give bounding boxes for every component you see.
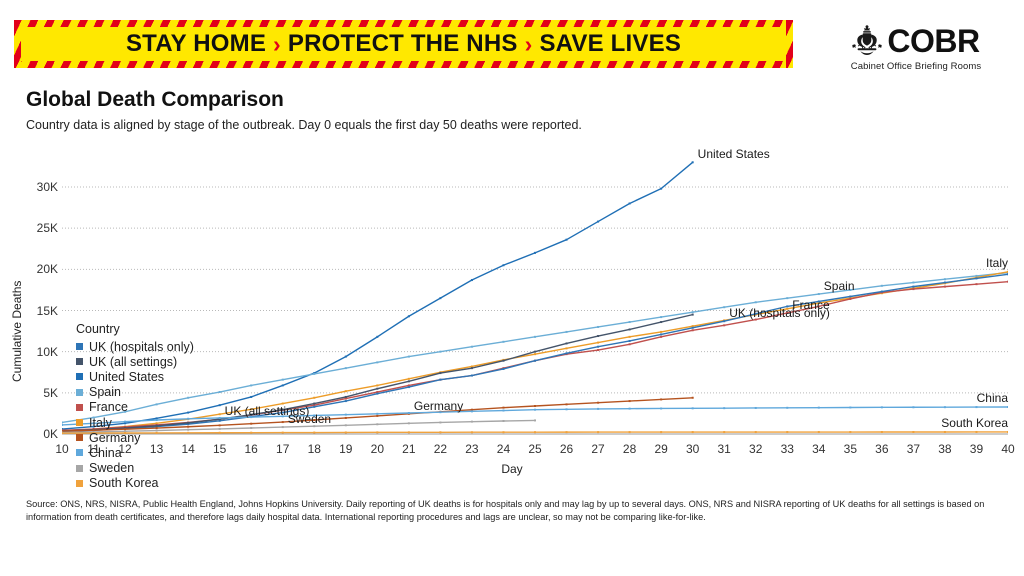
chart-legend: Country UK (hospitals only)UK (all setti… <box>76 322 194 491</box>
series-marker <box>534 360 536 362</box>
series-marker <box>471 431 473 433</box>
legend-swatch-icon <box>76 434 83 441</box>
series-marker <box>597 431 599 433</box>
banner-segment-stay-home: STAY HOME <box>126 30 266 58</box>
series-marker <box>219 413 221 415</box>
legend-item-label: South Korea <box>89 476 159 490</box>
series-marker <box>62 424 63 426</box>
series-marker <box>944 282 946 284</box>
y-axis-tick-label: 30K <box>18 180 58 194</box>
legend-item-label: UK (hospitals only) <box>89 340 194 354</box>
series-marker <box>345 367 347 369</box>
series-marker <box>597 349 599 351</box>
series-marker <box>723 324 725 326</box>
series-label-china: China <box>977 391 1008 405</box>
x-axis-tick-label: 36 <box>875 442 888 456</box>
series-marker <box>597 342 599 344</box>
series-marker <box>818 431 820 433</box>
banner-slogan: STAY HOME › PROTECT THE NHS › SAVE LIVES <box>126 30 681 58</box>
x-axis-tick-label: 38 <box>938 442 951 456</box>
series-marker <box>408 422 410 424</box>
series-marker <box>502 420 504 422</box>
series-marker <box>786 297 788 299</box>
series-marker <box>471 375 473 377</box>
series-marker <box>345 356 347 358</box>
legend-items: UK (hospitals only)UK (all settings)Unit… <box>76 339 194 491</box>
series-marker <box>660 331 662 333</box>
series-marker <box>944 286 946 288</box>
legend-item-label: UK (all settings) <box>89 355 177 369</box>
series-label-sweden: Sweden <box>288 412 331 426</box>
series-marker <box>471 410 473 412</box>
series-marker <box>471 279 473 281</box>
series-marker <box>881 285 883 287</box>
chart-container: Cumulative Deaths 0K5K10K15K20K25K30K Un… <box>0 150 1024 480</box>
x-axis-tick-label: 33 <box>781 442 794 456</box>
series-marker <box>975 406 977 408</box>
royal-coat-of-arms-icon <box>852 24 882 58</box>
legend-item-label: China <box>89 446 122 460</box>
series-marker <box>849 298 851 300</box>
legend-item-label: United States <box>89 370 164 384</box>
x-axis-tick-label: 23 <box>465 442 478 456</box>
series-marker <box>597 221 599 223</box>
series-marker <box>1007 281 1008 283</box>
series-marker <box>502 410 504 412</box>
series-marker <box>912 431 914 433</box>
series-marker <box>439 297 441 299</box>
x-axis-tick-label: 19 <box>339 442 352 456</box>
series-marker <box>629 328 631 330</box>
series-marker <box>219 432 221 434</box>
series-marker <box>1007 406 1008 408</box>
series-marker <box>282 421 284 423</box>
series-marker <box>944 278 946 280</box>
series-marker <box>408 378 410 380</box>
series-marker <box>629 431 631 433</box>
series-label-spain: Spain <box>824 279 855 293</box>
legend-swatch-icon <box>76 404 83 411</box>
x-axis-tick-label: 18 <box>308 442 321 456</box>
series-marker <box>408 356 410 358</box>
series-marker <box>660 316 662 318</box>
series-marker <box>566 347 568 349</box>
series-marker <box>471 367 473 369</box>
series-marker <box>376 423 378 425</box>
legend-swatch-icon <box>76 480 83 487</box>
x-axis-tick-label: 15 <box>213 442 226 456</box>
series-marker <box>660 321 662 323</box>
series-marker <box>345 396 347 398</box>
series-marker <box>1007 273 1008 275</box>
x-axis-tick-label: 28 <box>623 442 636 456</box>
cobr-logo: COBR Cabinet Office Briefing Rooms <box>832 22 1000 78</box>
legend-title: Country <box>76 322 194 336</box>
series-marker <box>1007 271 1008 273</box>
legend-item-italy[interactable]: Italy <box>76 415 194 430</box>
y-axis-tick-label: 5K <box>18 386 58 400</box>
hazard-stripe-left <box>14 20 21 68</box>
series-marker <box>597 346 599 348</box>
series-marker <box>597 335 599 337</box>
x-axis-tick-label: 26 <box>560 442 573 456</box>
series-marker <box>408 315 410 317</box>
series-marker <box>502 341 504 343</box>
series-marker <box>534 353 536 355</box>
stay-home-banner: STAY HOME › PROTECT THE NHS › SAVE LIVES <box>14 20 793 68</box>
x-axis-tick-label: 22 <box>434 442 447 456</box>
y-axis-tick-label: 25K <box>18 221 58 235</box>
series-marker <box>250 432 252 434</box>
x-axis-tick-label: 10 <box>55 442 68 456</box>
series-marker <box>849 406 851 408</box>
legend-item-germany[interactable]: Germany <box>76 430 194 445</box>
series-marker <box>471 421 473 423</box>
series-marker <box>282 432 284 434</box>
x-axis-tick-label: 30 <box>686 442 699 456</box>
legend-swatch-icon <box>76 358 83 365</box>
hazard-stripe-right <box>786 20 793 68</box>
x-axis-tick-label: 17 <box>276 442 289 456</box>
series-marker <box>786 431 788 433</box>
series-marker <box>502 431 504 433</box>
legend-item-label: Spain <box>89 385 121 399</box>
series-marker <box>534 405 536 407</box>
series-marker <box>502 360 504 362</box>
series-marker <box>881 431 883 433</box>
series-marker <box>376 384 378 386</box>
x-axis-tick-label: 16 <box>245 442 258 456</box>
series-marker <box>912 406 914 408</box>
series-marker <box>912 286 914 288</box>
series-marker <box>219 428 221 430</box>
hazard-stripe-bottom <box>14 61 793 68</box>
series-marker <box>912 288 914 290</box>
x-axis-tick-label: 31 <box>718 442 731 456</box>
series-marker <box>345 431 347 433</box>
series-marker <box>376 415 378 417</box>
banner-segment-save-lives: SAVE LIVES <box>539 30 681 58</box>
series-marker <box>975 431 977 433</box>
legend-item-label: Sweden <box>89 461 134 475</box>
series-marker <box>502 264 504 266</box>
series-marker <box>566 403 568 405</box>
legend-item-united-states[interactable]: United States <box>76 369 194 384</box>
series-marker <box>502 368 504 370</box>
y-axis-ticks: 0K5K10K15K20K25K30K <box>14 150 58 450</box>
series-marker <box>534 431 536 433</box>
series-marker <box>723 320 725 322</box>
series-marker <box>219 417 221 419</box>
series-marker <box>219 404 221 406</box>
page-title: Global Death Comparison <box>26 88 284 112</box>
series-marker <box>629 321 631 323</box>
series-marker <box>376 393 378 395</box>
series-marker <box>376 431 378 433</box>
series-marker <box>439 351 441 353</box>
series-marker <box>408 412 410 414</box>
series-marker <box>376 336 378 338</box>
legend-item-sweden[interactable]: Sweden <box>76 461 194 476</box>
series-marker <box>692 397 694 399</box>
series-marker <box>912 282 914 284</box>
x-axis-tick-label: 32 <box>749 442 762 456</box>
series-marker <box>660 398 662 400</box>
series-marker <box>250 427 252 429</box>
y-axis-tick-label: 10K <box>18 345 58 359</box>
series-marker <box>723 407 725 409</box>
legend-swatch-icon <box>76 343 83 350</box>
series-marker <box>408 386 410 388</box>
x-axis-tick-label: 39 <box>970 442 983 456</box>
legend-item-uk-all-settings[interactable]: UK (all settings) <box>76 354 194 369</box>
legend-item-label: Italy <box>89 416 112 430</box>
x-axis-tick-label: 37 <box>907 442 920 456</box>
series-marker <box>219 424 221 426</box>
series-marker <box>471 346 473 348</box>
series-marker <box>376 361 378 363</box>
series-marker <box>502 407 504 409</box>
series-marker <box>534 419 536 421</box>
series-marker <box>660 407 662 409</box>
chevron-right-icon-2: › <box>525 31 533 58</box>
series-marker <box>282 426 284 428</box>
series-marker <box>62 421 63 423</box>
series-marker <box>439 372 441 374</box>
series-marker <box>250 423 252 425</box>
series-marker <box>692 329 694 331</box>
series-marker <box>629 202 631 204</box>
series-marker <box>566 408 568 410</box>
series-marker <box>692 314 694 316</box>
series-marker <box>786 407 788 409</box>
series-marker <box>313 373 315 375</box>
legend-item-uk-hospitals-only[interactable]: UK (hospitals only) <box>76 339 194 354</box>
y-axis-tick-label: 15K <box>18 304 58 318</box>
series-label-south-korea: South Korea <box>941 416 1008 430</box>
x-axis-tick-label: 40 <box>1001 442 1014 456</box>
series-marker <box>62 432 63 434</box>
series-marker <box>250 384 252 386</box>
series-marker <box>944 406 946 408</box>
series-marker <box>975 277 977 279</box>
series-marker <box>629 400 631 402</box>
banner-row: STAY HOME › PROTECT THE NHS › SAVE LIVES <box>0 0 1024 88</box>
series-marker <box>534 252 536 254</box>
series-marker <box>597 408 599 410</box>
legend-item-label: Germany <box>89 431 140 445</box>
x-axis-tick-label: 27 <box>591 442 604 456</box>
series-marker <box>881 291 883 293</box>
series-marker <box>723 306 725 308</box>
series-marker <box>629 336 631 338</box>
series-marker <box>376 413 378 415</box>
x-axis-tick-label: 34 <box>812 442 825 456</box>
series-marker <box>755 301 757 303</box>
series-marker <box>566 352 568 354</box>
series-marker <box>534 409 536 411</box>
legend-item-china[interactable]: China <box>76 445 194 460</box>
series-marker <box>660 336 662 338</box>
series-marker <box>660 333 662 335</box>
series-marker <box>692 327 694 329</box>
x-axis-tick-label: 24 <box>497 442 510 456</box>
x-axis-ticks: 1011121314151617181920212223242526272829… <box>62 442 1008 462</box>
series-marker <box>313 432 315 434</box>
series-marker <box>345 424 347 426</box>
hazard-stripe-top <box>14 20 793 27</box>
series-marker <box>534 351 536 353</box>
series-marker <box>944 431 946 433</box>
series-marker <box>408 380 410 382</box>
series-label-uk-hospitals-only: UK (hospitals only) <box>729 306 830 320</box>
page-subtitle: Country data is aligned by stage of the … <box>26 118 582 132</box>
chevron-right-icon-1: › <box>273 31 281 58</box>
legend-swatch-icon <box>76 373 83 380</box>
series-marker <box>660 188 662 190</box>
series-marker <box>313 406 315 408</box>
series-label-united-states: United States <box>698 147 770 161</box>
series-marker <box>660 431 662 433</box>
series-marker <box>975 283 977 285</box>
x-axis-tick-label: 35 <box>844 442 857 456</box>
series-marker <box>345 400 347 402</box>
series-marker <box>597 326 599 328</box>
series-marker <box>408 431 410 433</box>
legend-swatch-icon <box>76 449 83 456</box>
plot-area: United StatesSpainItalyFranceUK (hospita… <box>62 150 1008 436</box>
series-marker <box>313 397 315 399</box>
series-marker <box>566 342 568 344</box>
legend-item-france[interactable]: France <box>76 400 194 415</box>
series-marker <box>345 390 347 392</box>
series-marker <box>629 408 631 410</box>
source-footnote: Source: ONS, NRS, NISRA, Public Health E… <box>26 498 998 525</box>
x-axis-tick-label: 25 <box>528 442 541 456</box>
y-axis-tick-label: 0K <box>18 427 58 441</box>
series-marker <box>755 431 757 433</box>
x-axis-tick-label: 29 <box>654 442 667 456</box>
series-marker <box>439 421 441 423</box>
series-marker <box>629 340 631 342</box>
legend-item-spain[interactable]: Spain <box>76 385 194 400</box>
legend-item-label: France <box>89 400 128 414</box>
series-marker <box>849 296 851 298</box>
series-marker <box>282 384 284 386</box>
series-marker <box>692 407 694 409</box>
series-marker <box>629 343 631 345</box>
legend-swatch-icon <box>76 419 83 426</box>
series-marker <box>345 417 347 419</box>
series-marker <box>597 402 599 404</box>
series-marker <box>566 331 568 333</box>
x-axis-tick-label: 21 <box>402 442 415 456</box>
series-marker <box>250 396 252 398</box>
series-marker <box>818 407 820 409</box>
series-marker <box>881 406 883 408</box>
series-marker <box>534 336 536 338</box>
cobr-wordmark: COBR <box>887 25 979 57</box>
series-marker <box>313 403 315 405</box>
series-marker <box>282 379 284 381</box>
series-marker <box>818 293 820 295</box>
y-axis-tick-label: 20K <box>18 262 58 276</box>
series-marker <box>439 379 441 381</box>
legend-item-south-korea[interactable]: South Korea <box>76 476 194 491</box>
series-label-germany: Germany <box>414 399 463 413</box>
series-marker <box>692 161 694 163</box>
chart-svg <box>62 150 1008 436</box>
series-marker <box>345 414 347 416</box>
series-marker <box>566 431 568 433</box>
series-marker <box>755 407 757 409</box>
x-axis-tick-label: 20 <box>371 442 384 456</box>
series-marker <box>849 431 851 433</box>
series-marker <box>1007 431 1008 433</box>
series-marker <box>692 311 694 313</box>
legend-swatch-icon <box>76 465 83 472</box>
series-label-italy: Italy <box>986 256 1008 270</box>
series-marker <box>219 391 221 393</box>
series-marker <box>439 431 441 433</box>
series-marker <box>376 388 378 390</box>
series-marker <box>723 431 725 433</box>
series-marker <box>692 431 694 433</box>
cobr-subtitle: Cabinet Office Briefing Rooms <box>832 61 1000 72</box>
legend-swatch-icon <box>76 389 83 396</box>
series-marker <box>566 239 568 241</box>
banner-segment-protect-nhs: PROTECT THE NHS <box>288 30 518 58</box>
